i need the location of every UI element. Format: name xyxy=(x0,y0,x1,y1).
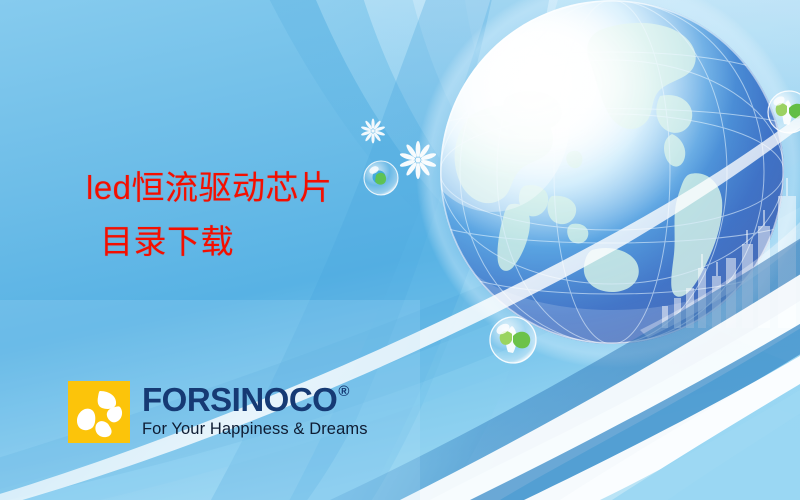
headline-line-2: 目录下载 xyxy=(86,220,333,264)
four-petal-pinwheel-icon xyxy=(68,381,130,443)
logo-tagline: For Your Happiness & Dreams xyxy=(142,420,368,439)
logo-wordmark-text: FORSINOCO xyxy=(142,383,337,416)
company-logo: FORSINOCO ® For Your Happiness & Dreams xyxy=(68,381,368,443)
registered-trademark-icon: ® xyxy=(338,384,349,399)
headline-line-1: led恒流驱动芯片 xyxy=(86,166,333,210)
banner-image: led恒流驱动芯片 目录下载 FORSINOCO ® For Your Happ… xyxy=(0,0,800,500)
bubble-with-leaf xyxy=(490,317,536,363)
logo-wordmark: FORSINOCO ® xyxy=(142,383,368,416)
bubble-with-globe xyxy=(364,161,398,195)
headline-text: led恒流驱动芯片 目录下载 xyxy=(86,166,333,263)
